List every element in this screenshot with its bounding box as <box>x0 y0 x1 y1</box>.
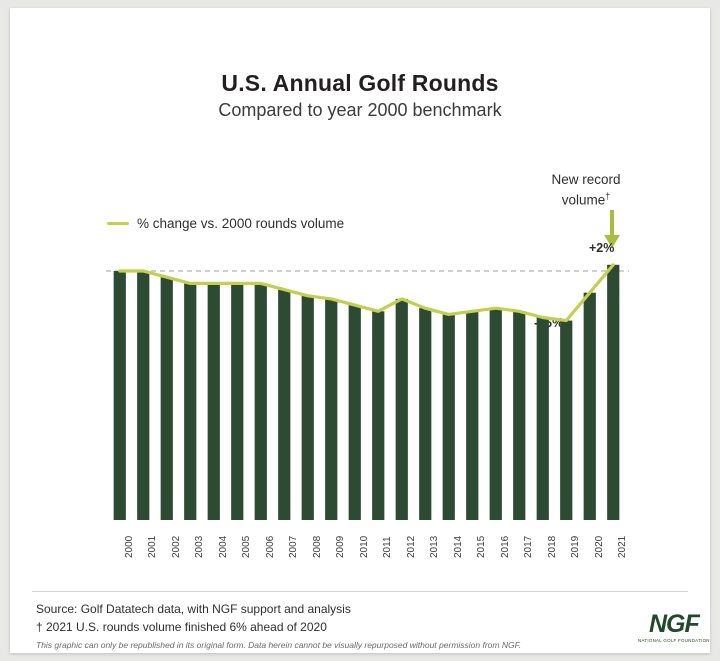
bar-2019 <box>560 321 572 520</box>
x-tick-2002: 2002 <box>171 536 182 558</box>
x-tick-2007: 2007 <box>288 536 299 558</box>
x-tick-2014: 2014 <box>453 536 464 558</box>
x-tick-2016: 2016 <box>500 536 511 558</box>
ngf-logo-subtext: NATIONAL GOLF FOUNDATION <box>638 638 710 643</box>
bar-2018 <box>537 318 549 521</box>
bar-2007 <box>278 290 290 520</box>
bar-2002 <box>161 277 173 520</box>
x-tick-2005: 2005 <box>241 536 252 558</box>
x-tick-2015: 2015 <box>476 536 487 558</box>
disclaimer-line: This graphic can only be republished in … <box>36 640 521 650</box>
bar-2008 <box>302 296 314 520</box>
bar-2010 <box>349 305 361 520</box>
x-tick-2011: 2011 <box>382 536 393 558</box>
x-tick-2020: 2020 <box>594 536 605 558</box>
bar-2003 <box>184 283 196 520</box>
x-tick-2013: 2013 <box>429 536 440 558</box>
bar-2006 <box>255 283 267 520</box>
bar-2015 <box>466 311 478 520</box>
bar-2000 <box>114 271 126 520</box>
x-tick-2004: 2004 <box>218 536 229 558</box>
x-tick-2006: 2006 <box>265 536 276 558</box>
x-tick-2018: 2018 <box>547 536 558 558</box>
bar-2021 <box>607 265 619 520</box>
bar-2011 <box>372 311 384 520</box>
bar-2013 <box>419 308 431 520</box>
footer-divider <box>32 591 688 592</box>
x-tick-2003: 2003 <box>194 536 205 558</box>
bar-2016 <box>490 308 502 520</box>
bar-2001 <box>137 271 149 520</box>
bar-2012 <box>396 299 408 520</box>
ngf-logo-mark: NGF <box>638 612 710 637</box>
x-tick-2019: 2019 <box>570 536 581 558</box>
bar-2014 <box>443 314 455 520</box>
x-tick-2010: 2010 <box>359 536 370 558</box>
ngf-logo: NGF NATIONAL GOLF FOUNDATION <box>638 612 710 643</box>
x-tick-2017: 2017 <box>523 536 534 558</box>
source-line: Source: Golf Datatech data, with NGF sup… <box>36 602 351 616</box>
footnote-line: † 2021 U.S. rounds volume finished 6% ah… <box>36 620 327 634</box>
x-tick-2012: 2012 <box>406 536 417 558</box>
bar-2005 <box>231 283 243 520</box>
x-tick-2001: 2001 <box>147 536 158 558</box>
x-tick-2000: 2000 <box>124 536 135 558</box>
bar-2017 <box>513 311 525 520</box>
chart-card: U.S. Annual Golf Rounds Compared to year… <box>10 8 710 653</box>
bar-2009 <box>325 299 337 520</box>
x-tick-2009: 2009 <box>335 536 346 558</box>
bar-2020 <box>584 293 596 520</box>
bar-2004 <box>208 283 220 520</box>
chart-plot-area: 2000200120022003200420052006200720082009… <box>10 8 710 653</box>
x-tick-2008: 2008 <box>312 536 323 558</box>
x-tick-2021: 2021 <box>617 536 628 558</box>
